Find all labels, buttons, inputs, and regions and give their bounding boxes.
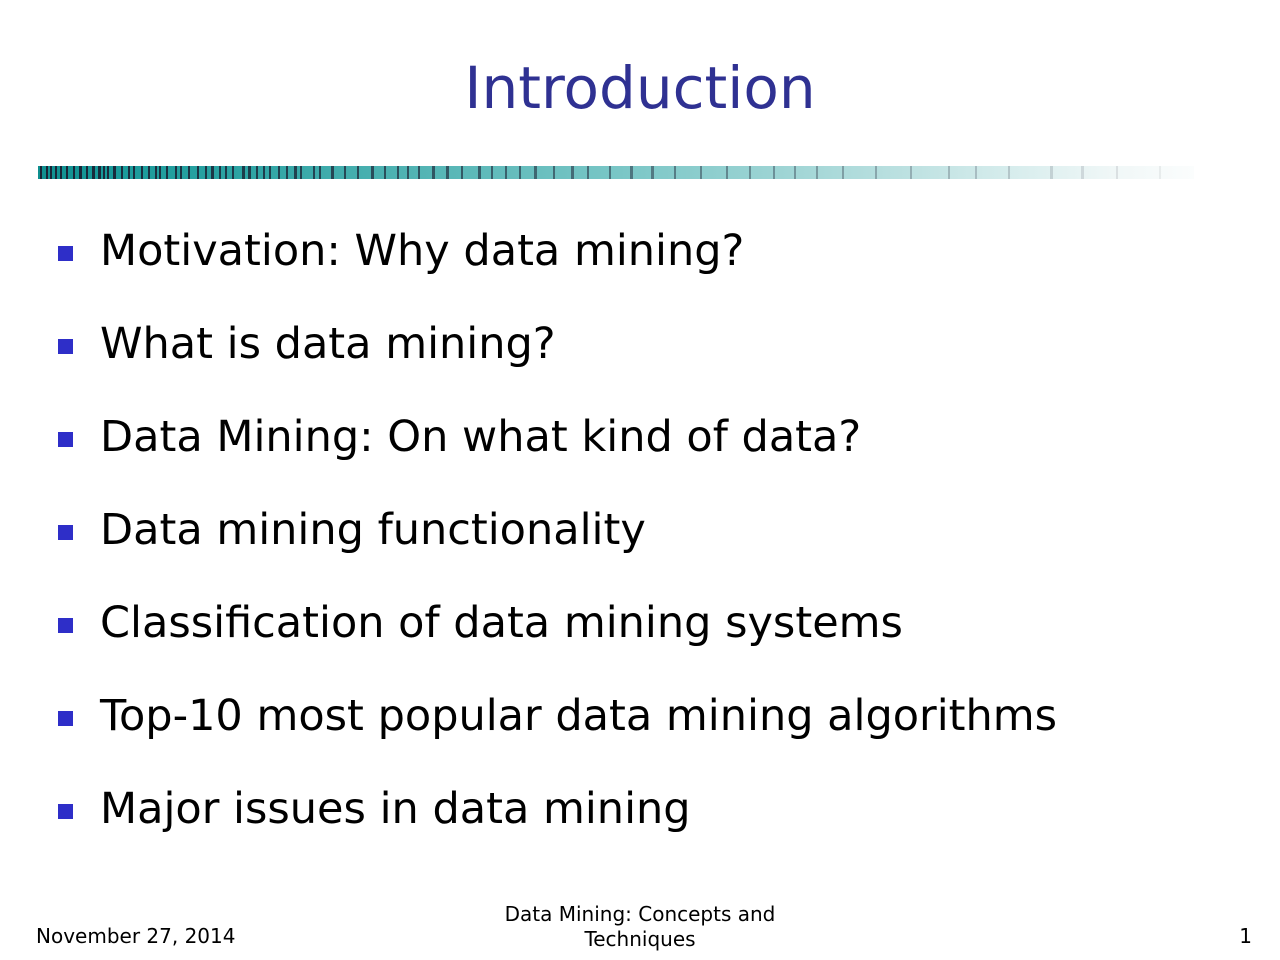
divider-tick bbox=[461, 166, 463, 179]
list-item-label: Data mining functionality bbox=[100, 501, 1238, 552]
divider-tick bbox=[609, 166, 611, 179]
divider-tick bbox=[294, 166, 297, 179]
list-item-label: Major issues in data mining bbox=[100, 780, 1238, 831]
divider-tick bbox=[397, 166, 399, 179]
divider-tick bbox=[491, 166, 493, 179]
divider-tick bbox=[418, 166, 420, 179]
footer-title-line-2: Techniques bbox=[430, 927, 850, 952]
divider-tick bbox=[148, 166, 150, 179]
divider-tick bbox=[948, 166, 950, 179]
divider-tick bbox=[794, 166, 796, 179]
list-item-label: Motivation: Why data mining? bbox=[100, 222, 1238, 273]
footer-title-line-1: Data Mining: Concepts and bbox=[430, 902, 850, 927]
divider-tick bbox=[816, 166, 818, 179]
bullet-square-icon bbox=[58, 246, 73, 261]
divider-tick bbox=[344, 166, 346, 179]
divider-tick bbox=[263, 166, 265, 179]
divider-tick bbox=[1050, 166, 1053, 179]
divider-tick bbox=[40, 166, 42, 179]
divider-tick bbox=[773, 166, 775, 179]
list-item: Classification of data mining systems bbox=[58, 594, 1238, 687]
divider-tick bbox=[553, 166, 555, 179]
divider-tick bbox=[313, 166, 315, 179]
divider-tick bbox=[505, 166, 507, 179]
divider-tick bbox=[534, 166, 537, 179]
list-item-label: What is data mining? bbox=[100, 315, 1238, 366]
divider-tick bbox=[166, 166, 168, 179]
list-item: Motivation: Why data mining? bbox=[58, 222, 1238, 315]
bullet-square-icon bbox=[58, 525, 73, 540]
divider-tick bbox=[407, 166, 409, 179]
divider-tick bbox=[197, 166, 199, 179]
divider-tick bbox=[121, 166, 123, 179]
divider-tick bbox=[1159, 166, 1161, 179]
divider-tick bbox=[726, 166, 728, 179]
divider-tick bbox=[910, 166, 912, 179]
divider-tick bbox=[278, 166, 280, 179]
divider-tick bbox=[331, 166, 334, 179]
divider-tick-marks bbox=[38, 166, 1194, 179]
divider-tick bbox=[113, 166, 116, 179]
divider-tick bbox=[66, 166, 68, 179]
divider-tick bbox=[92, 166, 95, 179]
divider-tick bbox=[630, 166, 633, 179]
divider-tick bbox=[300, 166, 302, 179]
divider-tick bbox=[175, 166, 177, 179]
divider-tick bbox=[519, 166, 521, 179]
page-title: Introduction bbox=[0, 58, 1280, 119]
divider-tick bbox=[749, 166, 751, 179]
divider-tick bbox=[651, 166, 654, 179]
divider-tick bbox=[133, 166, 135, 179]
divider-tick bbox=[232, 166, 234, 179]
divider-tick bbox=[842, 166, 844, 179]
divider-tick bbox=[219, 166, 221, 179]
divider-tick bbox=[73, 166, 75, 179]
list-item: Top-10 most popular data mining algorith… bbox=[58, 687, 1238, 780]
divider-tick bbox=[107, 166, 109, 179]
divider-tick bbox=[159, 166, 161, 179]
divider-tick bbox=[571, 166, 574, 179]
divider-tick bbox=[86, 166, 88, 179]
decorative-gradient-rule bbox=[38, 166, 1194, 179]
divider-tick bbox=[180, 166, 182, 179]
bullet-square-icon bbox=[58, 339, 73, 354]
divider-tick bbox=[1116, 166, 1118, 179]
divider-tick bbox=[446, 166, 449, 179]
list-item-label: Data Mining: On what kind of data? bbox=[100, 408, 1238, 459]
divider-tick bbox=[103, 166, 105, 179]
bullet-square-icon bbox=[58, 804, 73, 819]
divider-tick bbox=[371, 166, 374, 179]
divider-tick bbox=[205, 166, 207, 179]
divider-tick bbox=[286, 166, 288, 179]
divider-tick bbox=[1081, 166, 1084, 179]
bullet-list: Motivation: Why data mining?What is data… bbox=[58, 222, 1238, 873]
divider-tick bbox=[357, 166, 359, 179]
divider-tick bbox=[700, 166, 702, 179]
divider-tick bbox=[478, 166, 481, 179]
bullet-square-icon bbox=[58, 432, 73, 447]
divider-tick bbox=[60, 166, 62, 179]
list-item-label: Top-10 most popular data mining algorith… bbox=[100, 687, 1238, 738]
divider-tick bbox=[1008, 166, 1010, 179]
divider-tick bbox=[98, 166, 101, 179]
slide-canvas: Introduction Motivation: Why data mining… bbox=[0, 0, 1280, 960]
divider-tick bbox=[79, 166, 82, 179]
divider-tick bbox=[141, 166, 143, 179]
divider-tick bbox=[587, 166, 589, 179]
divider-tick bbox=[256, 166, 258, 179]
footer-date: November 27, 2014 bbox=[36, 924, 235, 948]
divider-tick bbox=[674, 166, 676, 179]
list-item-label: Classification of data mining systems bbox=[100, 594, 1238, 645]
divider-tick bbox=[248, 166, 251, 179]
list-item: Major issues in data mining bbox=[58, 780, 1238, 873]
list-item: What is data mining? bbox=[58, 315, 1238, 408]
divider-tick bbox=[225, 166, 227, 179]
divider-tick bbox=[50, 166, 52, 179]
divider-tick bbox=[432, 166, 435, 179]
divider-tick bbox=[55, 166, 57, 179]
footer-title: Data Mining: Concepts and Techniques bbox=[430, 902, 850, 952]
divider-tick bbox=[875, 166, 877, 179]
bullet-square-icon bbox=[58, 711, 73, 726]
divider-tick bbox=[211, 166, 214, 179]
list-item: Data Mining: On what kind of data? bbox=[58, 408, 1238, 501]
divider-tick bbox=[269, 166, 271, 179]
list-item: Data mining functionality bbox=[58, 501, 1238, 594]
page-number: 1 bbox=[1239, 924, 1252, 948]
divider-tick bbox=[46, 166, 48, 179]
divider-tick bbox=[188, 166, 190, 179]
divider-tick bbox=[384, 166, 386, 179]
divider-tick bbox=[155, 166, 157, 179]
divider-tick bbox=[319, 166, 321, 179]
divider-tick bbox=[128, 166, 130, 179]
divider-tick bbox=[975, 166, 977, 179]
bullet-square-icon bbox=[58, 618, 73, 633]
divider-tick bbox=[242, 166, 245, 179]
